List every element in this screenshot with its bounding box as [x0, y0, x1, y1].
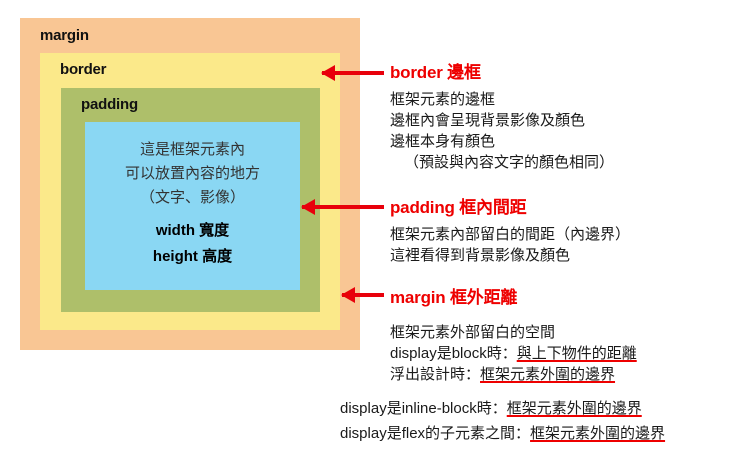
content-height-label: height 高度 — [85, 244, 300, 270]
margin-annotation-line-2: display是block時：與上下物件的距離 — [390, 343, 637, 364]
content-box-text: 這是框架元素內 可以放置內容的地方 （文字、影像） width 寬度 heigh… — [85, 122, 300, 270]
border-pointer-arrow-icon — [322, 71, 384, 75]
flex-prefix: display是flex的子元素之間： — [340, 425, 530, 442]
margin-annotation-line-3: 浮出設計時：框架元素外圍的邊界 — [390, 364, 637, 385]
margin-annotation-body: 框架元素外部留白的空間 display是block時：與上下物件的距離 浮出設計… — [390, 322, 637, 385]
inline-block-underlined: 框架元素外圍的邊界 — [507, 400, 642, 417]
border-label: border — [60, 61, 106, 78]
content-line-1: 這是框架元素內 — [85, 138, 300, 162]
margin-block-underlined: 與上下物件的距離 — [517, 345, 637, 362]
margin-float-prefix: 浮出設計時： — [390, 366, 480, 383]
padding-pointer-arrow-icon — [302, 205, 384, 209]
content-layer: 這是框架元素內 可以放置內容的地方 （文字、影像） width 寬度 heigh… — [85, 122, 300, 290]
flex-underlined: 框架元素外圍的邊界 — [530, 425, 665, 442]
padding-annotation: padding 框內間距 框架元素內部留白的間距（內邊界） 這裡看得到背景影像及… — [390, 193, 630, 266]
padding-annotation-body: 框架元素內部留白的間距（內邊界） 這裡看得到背景影像及顏色 — [390, 224, 630, 266]
border-annotation-line-4: （預設與內容文字的顏色相同） — [390, 152, 614, 173]
margin-pointer-arrow-icon — [342, 293, 384, 297]
content-width-label: width 寬度 — [85, 218, 300, 244]
border-annotation-body: 框架元素的邊框 邊框內會呈現背景影像及顏色 邊框本身有顏色 （預設與內容文字的顏… — [390, 89, 614, 173]
annotation-column: border 邊框 框架元素的邊框 邊框內會呈現背景影像及顏色 邊框本身有顏色 … — [390, 0, 750, 461]
margin-annotation: margin 框外距離 框架元素外部留白的空間 display是block時：與… — [390, 283, 637, 385]
border-annotation-title: border 邊框 — [390, 58, 614, 83]
inline-block-prefix: display是inline-block時： — [340, 400, 507, 417]
content-spacer — [85, 210, 300, 218]
bottom-note-lines: display是inline-block時：框架元素外圍的邊界 display是… — [340, 396, 750, 446]
content-line-2: 可以放置內容的地方 — [85, 162, 300, 186]
border-annotation-line-2: 邊框內會呈現背景影像及顏色 — [390, 110, 614, 131]
bottom-line-flex: display是flex的子元素之間：框架元素外圍的邊界 — [340, 421, 750, 446]
border-layer: 這是框架元素內 可以放置內容的地方 （文字、影像） width 寬度 heigh… — [40, 53, 340, 330]
border-annotation-line-1: 框架元素的邊框 — [390, 89, 614, 110]
padding-label: padding — [81, 96, 138, 113]
bottom-line-inline-block: display是inline-block時：框架元素外圍的邊界 — [340, 396, 750, 421]
padding-annotation-line-1: 框架元素內部留白的間距（內邊界） — [390, 224, 630, 245]
margin-label: margin — [40, 27, 89, 44]
margin-float-underlined: 框架元素外圍的邊界 — [480, 366, 615, 383]
border-annotation-line-3: 邊框本身有顏色 — [390, 131, 614, 152]
content-line-3: （文字、影像） — [85, 186, 300, 210]
padding-layer: 這是框架元素內 可以放置內容的地方 （文字、影像） width 寬度 heigh… — [61, 88, 320, 312]
padding-annotation-title: padding 框內間距 — [390, 193, 630, 218]
padding-annotation-line-2: 這裡看得到背景影像及顏色 — [390, 245, 630, 266]
margin-annotation-line-1: 框架元素外部留白的空間 — [390, 322, 637, 343]
margin-annotation-title: margin 框外距離 — [390, 283, 637, 308]
border-annotation: border 邊框 框架元素的邊框 邊框內會呈現背景影像及顏色 邊框本身有顏色 … — [390, 58, 614, 173]
margin-block-prefix: display是block時： — [390, 345, 517, 362]
